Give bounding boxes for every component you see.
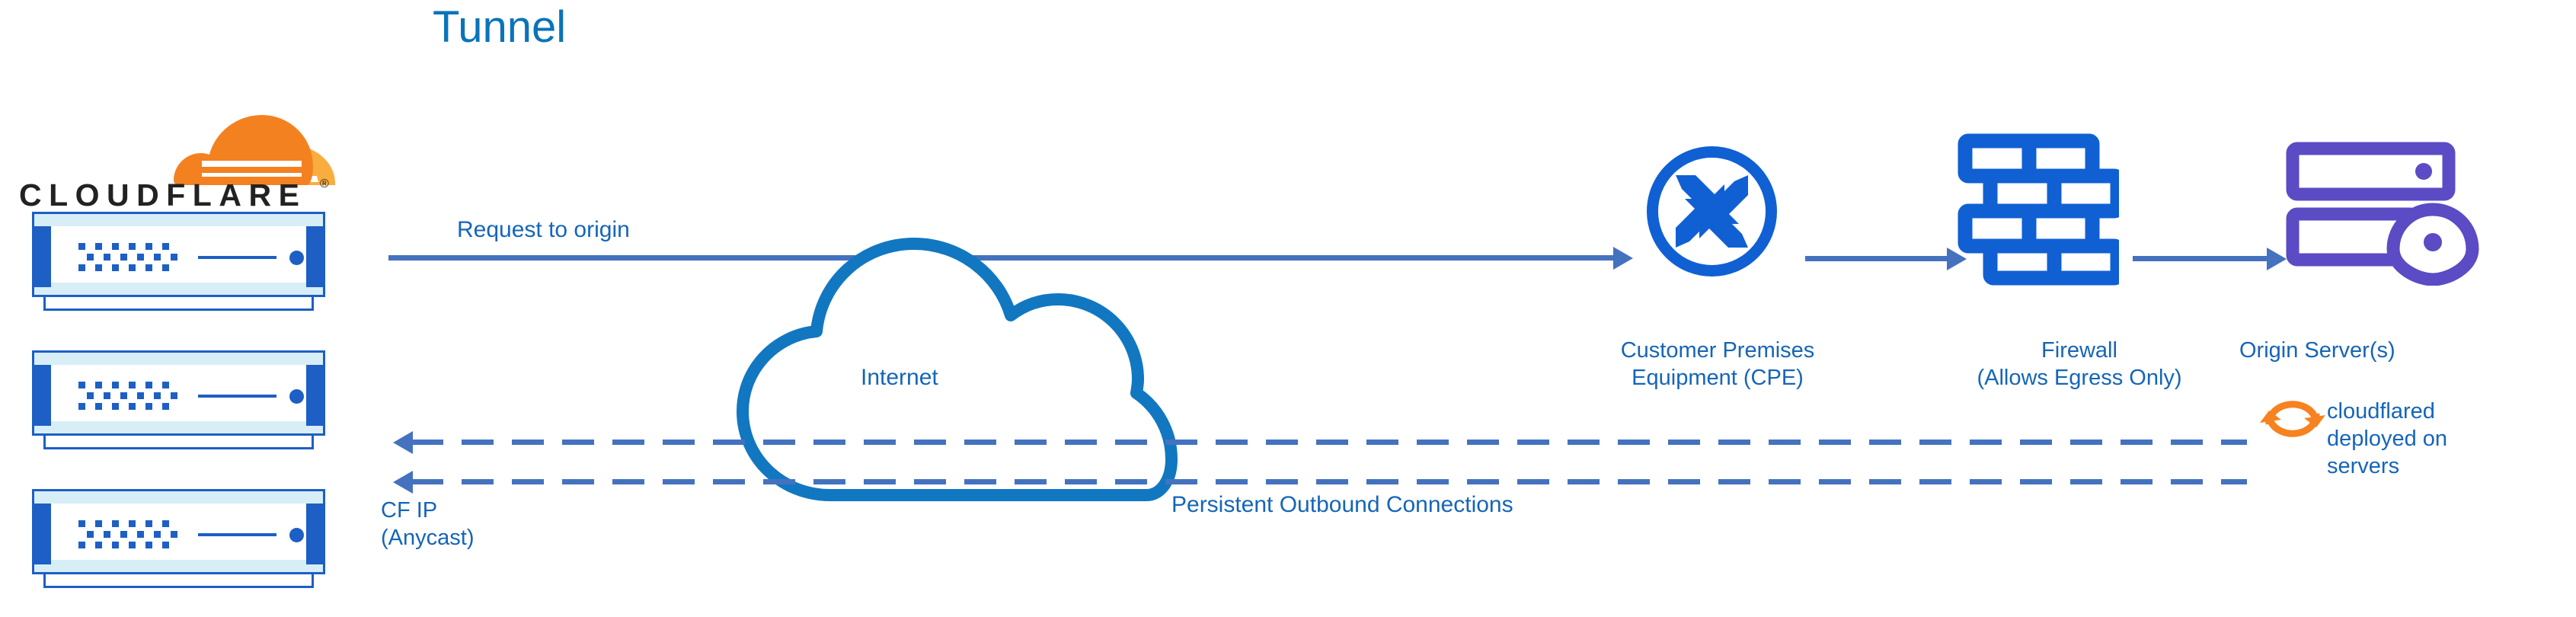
cloudflared-label: cloudflared deployed on servers [2327, 398, 2571, 480]
persistent-connection-dashed-line-2 [411, 479, 2247, 484]
cloudflare-wordmark: CLOUDFLARE [19, 177, 306, 213]
firewall-to-origin-arrow-head [2267, 248, 2287, 270]
rack-led-3 [289, 528, 304, 542]
rack-body-1 [32, 212, 325, 297]
request-to-origin-arrow-head [1613, 247, 1633, 270]
rack-indicator-line-3 [198, 533, 276, 536]
rack-ear-left-1 [34, 226, 51, 287]
origin-server-rack-pin-icon [2285, 141, 2483, 286]
cloudflare-server-rack-1 [17, 212, 340, 314]
cloudflare-logo: CLOUDFLARE ® [15, 110, 350, 217]
rack-indicator-line-1 [198, 256, 276, 259]
rack-ear-left-2 [34, 365, 51, 426]
firewall-to-origin-arrow-line [2133, 256, 2268, 261]
rack-ear-right-1 [306, 226, 323, 287]
persistent-outbound-connections-label: Persistent Outbound Connections [1171, 491, 1513, 519]
persistent-connection-arrow-head-2 [393, 471, 413, 494]
cloudflare-server-rack-3 [17, 489, 340, 591]
rack-led-1 [289, 251, 304, 265]
rack-led-2 [289, 389, 304, 404]
internet-cloud-icon [708, 225, 1181, 507]
rack-body-2 [32, 350, 325, 436]
firewall-label: Firewall (Allows Egress Only) [1904, 337, 2255, 392]
rack-ear-right-2 [306, 365, 323, 426]
origin-server-node [2285, 141, 2483, 289]
page-title: Tunnel [433, 2, 566, 53]
cpe-label: Customer Premises Equipment (CPE) [1554, 337, 1881, 392]
origin-server-label: Origin Server(s) [2239, 337, 2559, 364]
cpe-to-firewall-arrow-line [1805, 256, 1948, 261]
internet-cloud [708, 225, 1181, 510]
firewall-node [1958, 133, 2119, 289]
cloudflared-node [2258, 385, 2327, 457]
request-to-origin-label: Request to origin [457, 216, 630, 244]
cloudflare-server-rack-2 [17, 350, 340, 452]
firewall-brick-wall-icon [1958, 133, 2119, 286]
cf-ip-anycast-label: CF IP (Anycast) [381, 497, 686, 551]
rack-indicator-line-2 [198, 395, 276, 398]
cloudflared-sync-icon [2258, 385, 2327, 453]
rack-body-3 [32, 489, 325, 574]
persistent-connection-dashed-line-1 [411, 440, 2247, 445]
diagram-canvas: Tunnel CLOUDFLARE ® [0, 0, 2576, 617]
cpe-converging-arrows-icon [1641, 141, 1782, 282]
registered-trademark-icon: ® [320, 177, 329, 191]
internet-label: Internet [861, 364, 938, 392]
cpe-node [1641, 141, 1782, 286]
persistent-connection-arrow-head-1 [393, 431, 413, 454]
rack-ear-left-3 [34, 504, 51, 564]
rack-ear-right-3 [306, 504, 323, 564]
